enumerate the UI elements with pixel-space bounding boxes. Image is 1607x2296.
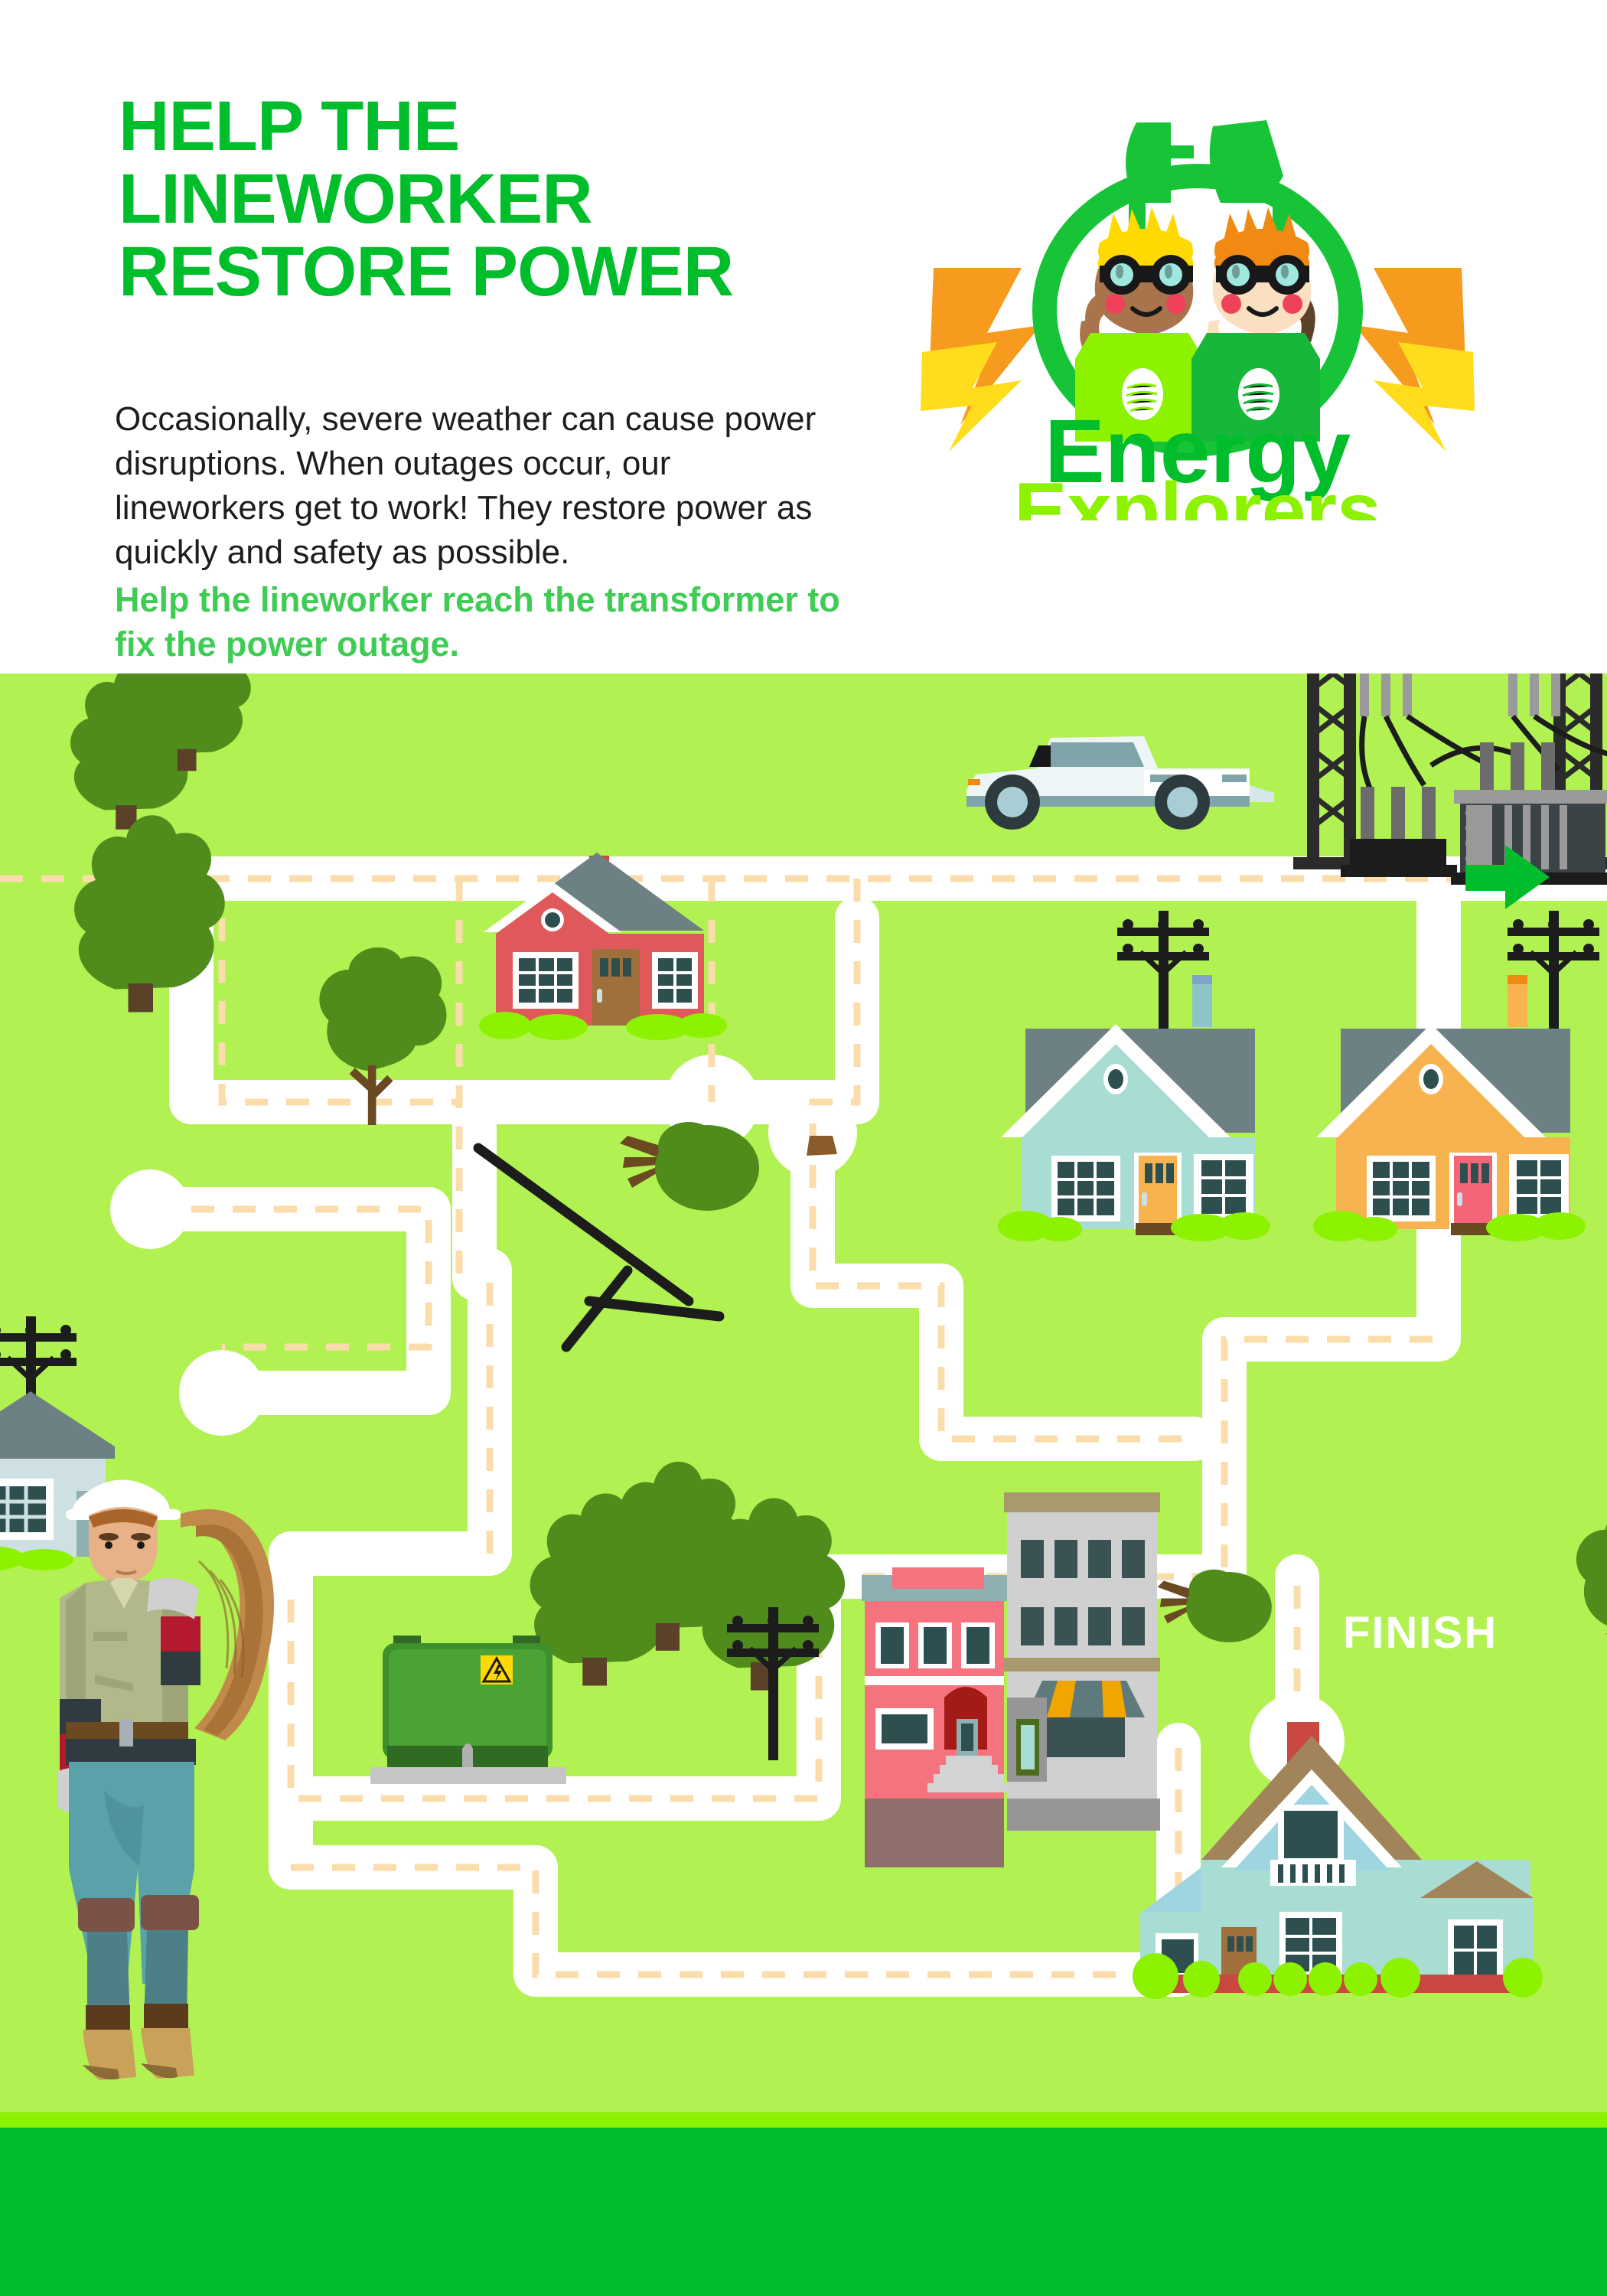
logo-word-explorers: Explorers: [1014, 467, 1381, 520]
lightning-bolt-icon: [1354, 268, 1475, 452]
finish-label: FINISH: [1343, 1607, 1498, 1658]
title-line-2: LINEWORKER: [119, 163, 884, 236]
header-section: HELP THE LINEWORKER RESTORE POWER Occasi…: [0, 0, 1607, 673]
pad-mounted-transformer: [370, 1636, 566, 1784]
maze-scene: FINISH START: [0, 673, 1607, 2128]
footer-band: [0, 2128, 1607, 2296]
page-title: HELP THE LINEWORKER RESTORE POWER: [119, 90, 884, 308]
intro-paragraph: Occasionally, severe weather can cause p…: [115, 397, 849, 575]
instruction-text: Help the lineworker reach the transforme…: [115, 578, 849, 666]
title-line-3: RESTORE POWER: [119, 236, 884, 308]
title-line-1: HELP THE: [119, 90, 884, 163]
poster-root: HELP THE LINEWORKER RESTORE POWER Occasi…: [0, 0, 1607, 2296]
energy-explorers-logo: Energy Explorers: [907, 103, 1488, 520]
footer-accent-band: [0, 2112, 1607, 2129]
lightning-bolt-icon: [921, 268, 1041, 452]
